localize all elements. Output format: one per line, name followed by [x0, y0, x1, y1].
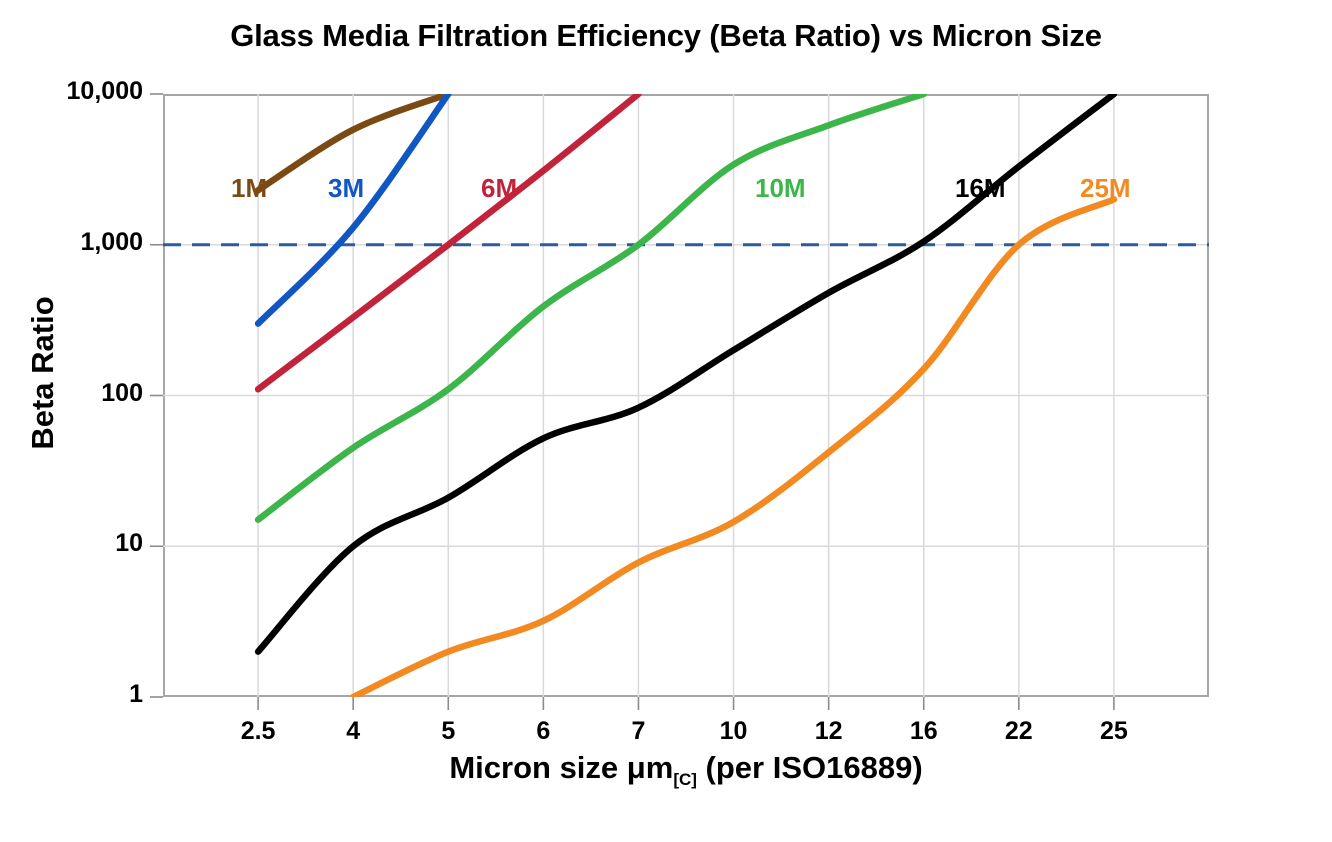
y-tick-label: 1	[0, 680, 143, 709]
series-label-10M: 10M	[755, 173, 806, 204]
x-tick-label: 25	[1064, 717, 1164, 746]
series-label-6M: 6M	[481, 173, 517, 204]
x-tick-label: 16	[874, 717, 974, 746]
x-tick-label: 12	[779, 717, 879, 746]
x-tick-label: 5	[398, 717, 498, 746]
x-tick-label: 4	[303, 717, 403, 746]
chart-root: Glass Media Filtration Efficiency (Beta …	[0, 0, 1332, 842]
y-tick-label: 10,000	[0, 77, 143, 106]
x-tick-label: 7	[588, 717, 688, 746]
x-tick-label: 22	[969, 717, 1069, 746]
y-tick-label: 1,000	[0, 228, 143, 257]
x-axis-title-tail: (per ISO16889)	[697, 750, 923, 785]
y-tick-label: 10	[0, 529, 143, 558]
x-axis-title-subscript: [C]	[673, 770, 697, 789]
chart-title: Glass Media Filtration Efficiency (Beta …	[0, 18, 1332, 54]
x-tick-label: 6	[493, 717, 593, 746]
x-tick-label: 10	[684, 717, 784, 746]
x-axis-title-main: Micron size μm	[449, 750, 673, 785]
series-label-3M: 3M	[328, 173, 364, 204]
x-tick-label: 2.5	[208, 717, 308, 746]
series-label-1M: 1M	[231, 173, 267, 204]
y-tick-label: 100	[0, 379, 143, 408]
series-label-25M: 25M	[1080, 173, 1131, 204]
series-label-16M: 16M	[955, 173, 1006, 204]
y-axis-title: Beta Ratio	[25, 213, 61, 533]
plot-area	[163, 94, 1209, 697]
x-axis-title: Micron size μm[C] (per ISO16889)	[163, 750, 1209, 790]
